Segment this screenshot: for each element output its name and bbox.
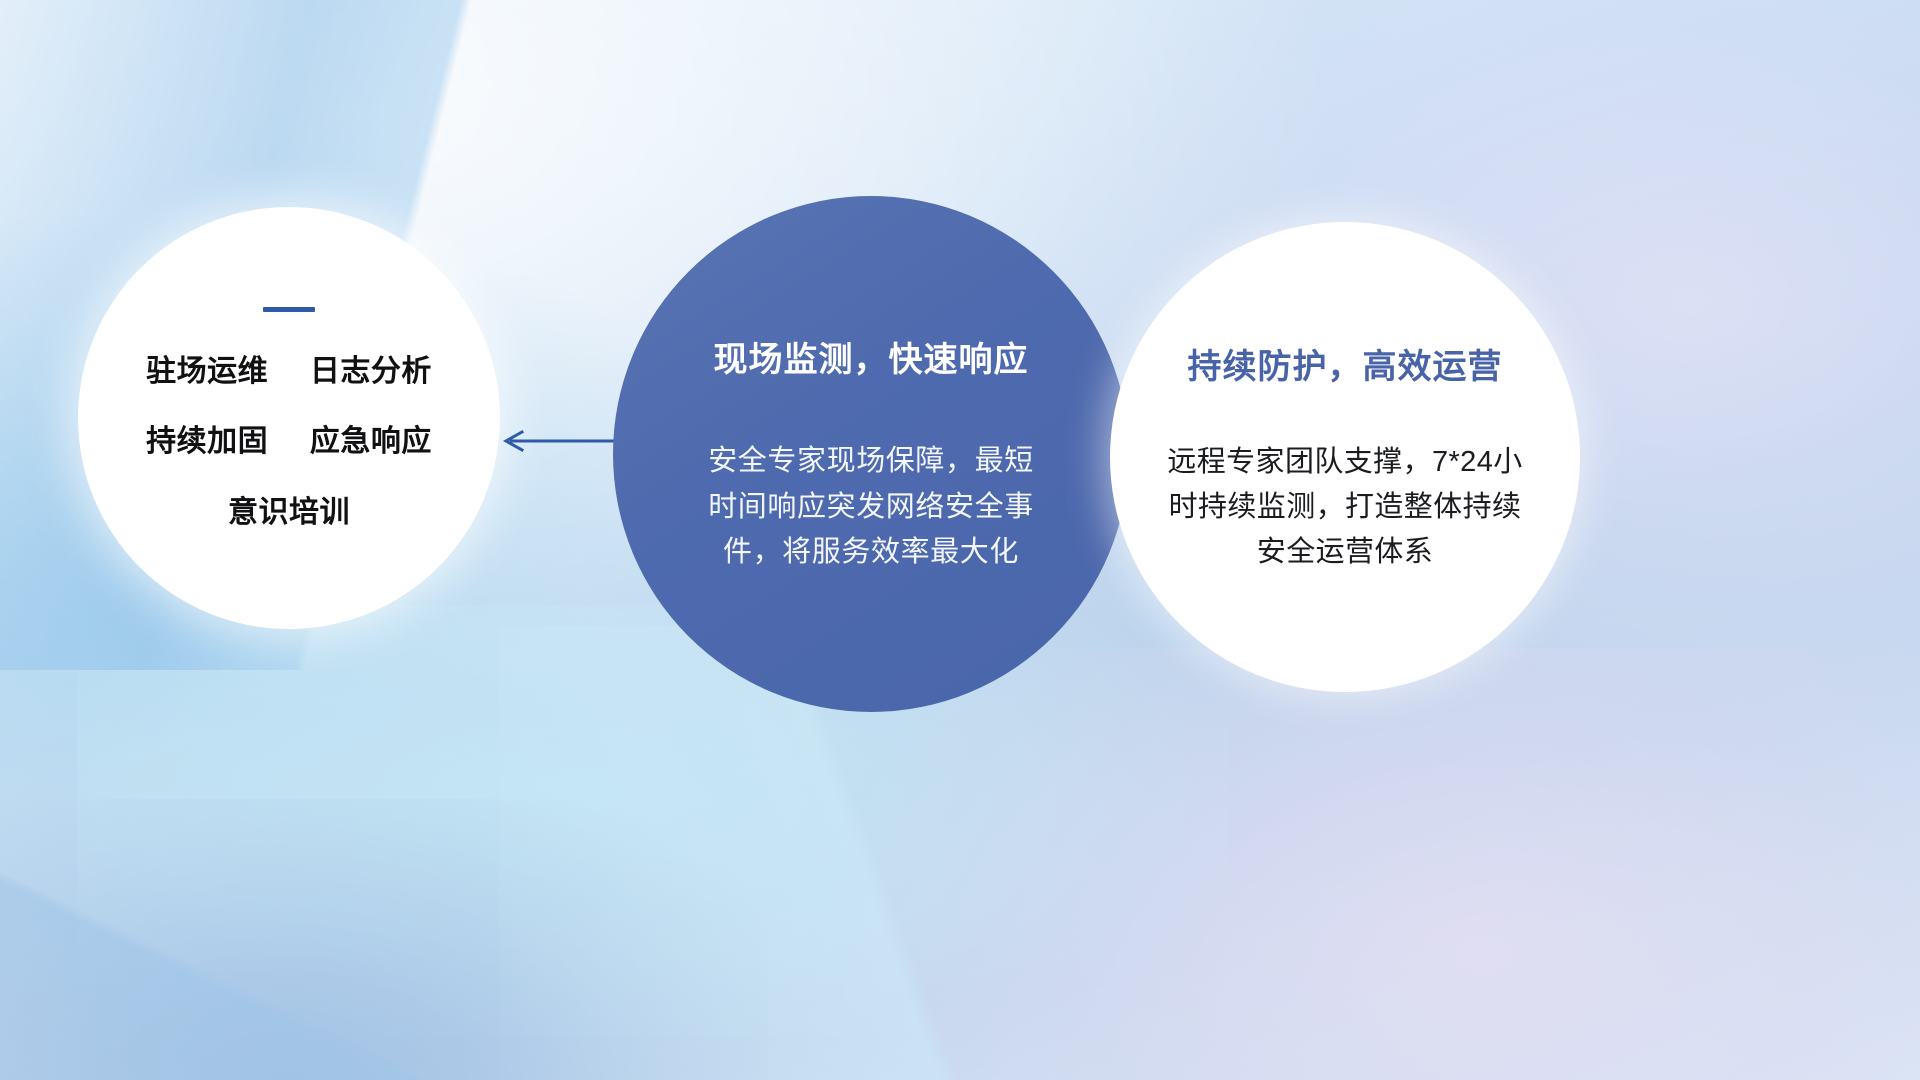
continuous-protection-circle: 持续防护，高效运营 远程专家团队支撑，7*24小时持续监测，打造整体持续安全运营… bbox=[1110, 222, 1580, 692]
keyword-chip: 持续加固 bbox=[146, 426, 268, 458]
keyword-chip: 意识培训 bbox=[228, 497, 350, 529]
keyword-chip: 驻场运维 bbox=[146, 356, 268, 388]
keyword-row: 持续加固 应急响应 bbox=[112, 426, 466, 458]
continuous-protection-content: 持续防护，高效运营 远程专家团队支撑，7*24小时持续监测，打造整体持续安全运营… bbox=[1110, 339, 1580, 576]
keyword-chip: 日志分析 bbox=[310, 356, 432, 388]
capabilities-content: 驻场运维 日志分析 持续加固 应急响应 意识培训 bbox=[78, 307, 500, 529]
onsite-monitoring-title: 现场监测，快速响应 bbox=[659, 332, 1083, 381]
keyword-row: 意识培训 bbox=[112, 497, 466, 529]
onsite-monitoring-body: 安全专家现场保障，最短时间响应突发网络安全事件，将服务效率最大化 bbox=[706, 439, 1036, 576]
service-diagram: 驻场运维 日志分析 持续加固 应急响应 意识培训 现场监测，快速响应 安全专家现… bbox=[0, 0, 1920, 1080]
capabilities-circle: 驻场运维 日志分析 持续加固 应急响应 意识培训 bbox=[78, 207, 500, 629]
keyword-row: 驻场运维 日志分析 bbox=[112, 356, 466, 388]
horizontal-dash-icon bbox=[263, 307, 315, 312]
continuous-protection-title: 持续防护，高效运营 bbox=[1144, 339, 1546, 388]
onsite-monitoring-circle: 现场监测，快速响应 安全专家现场保障，最短时间响应突发网络安全事件，将服务效率最… bbox=[613, 196, 1129, 712]
keyword-chip: 应急响应 bbox=[310, 426, 432, 458]
continuous-protection-body: 远程专家团队支撑，7*24小时持续监测，打造整体持续安全运营体系 bbox=[1160, 440, 1530, 576]
onsite-monitoring-content: 现场监测，快速响应 安全专家现场保障，最短时间响应突发网络安全事件，将服务效率最… bbox=[613, 332, 1129, 576]
